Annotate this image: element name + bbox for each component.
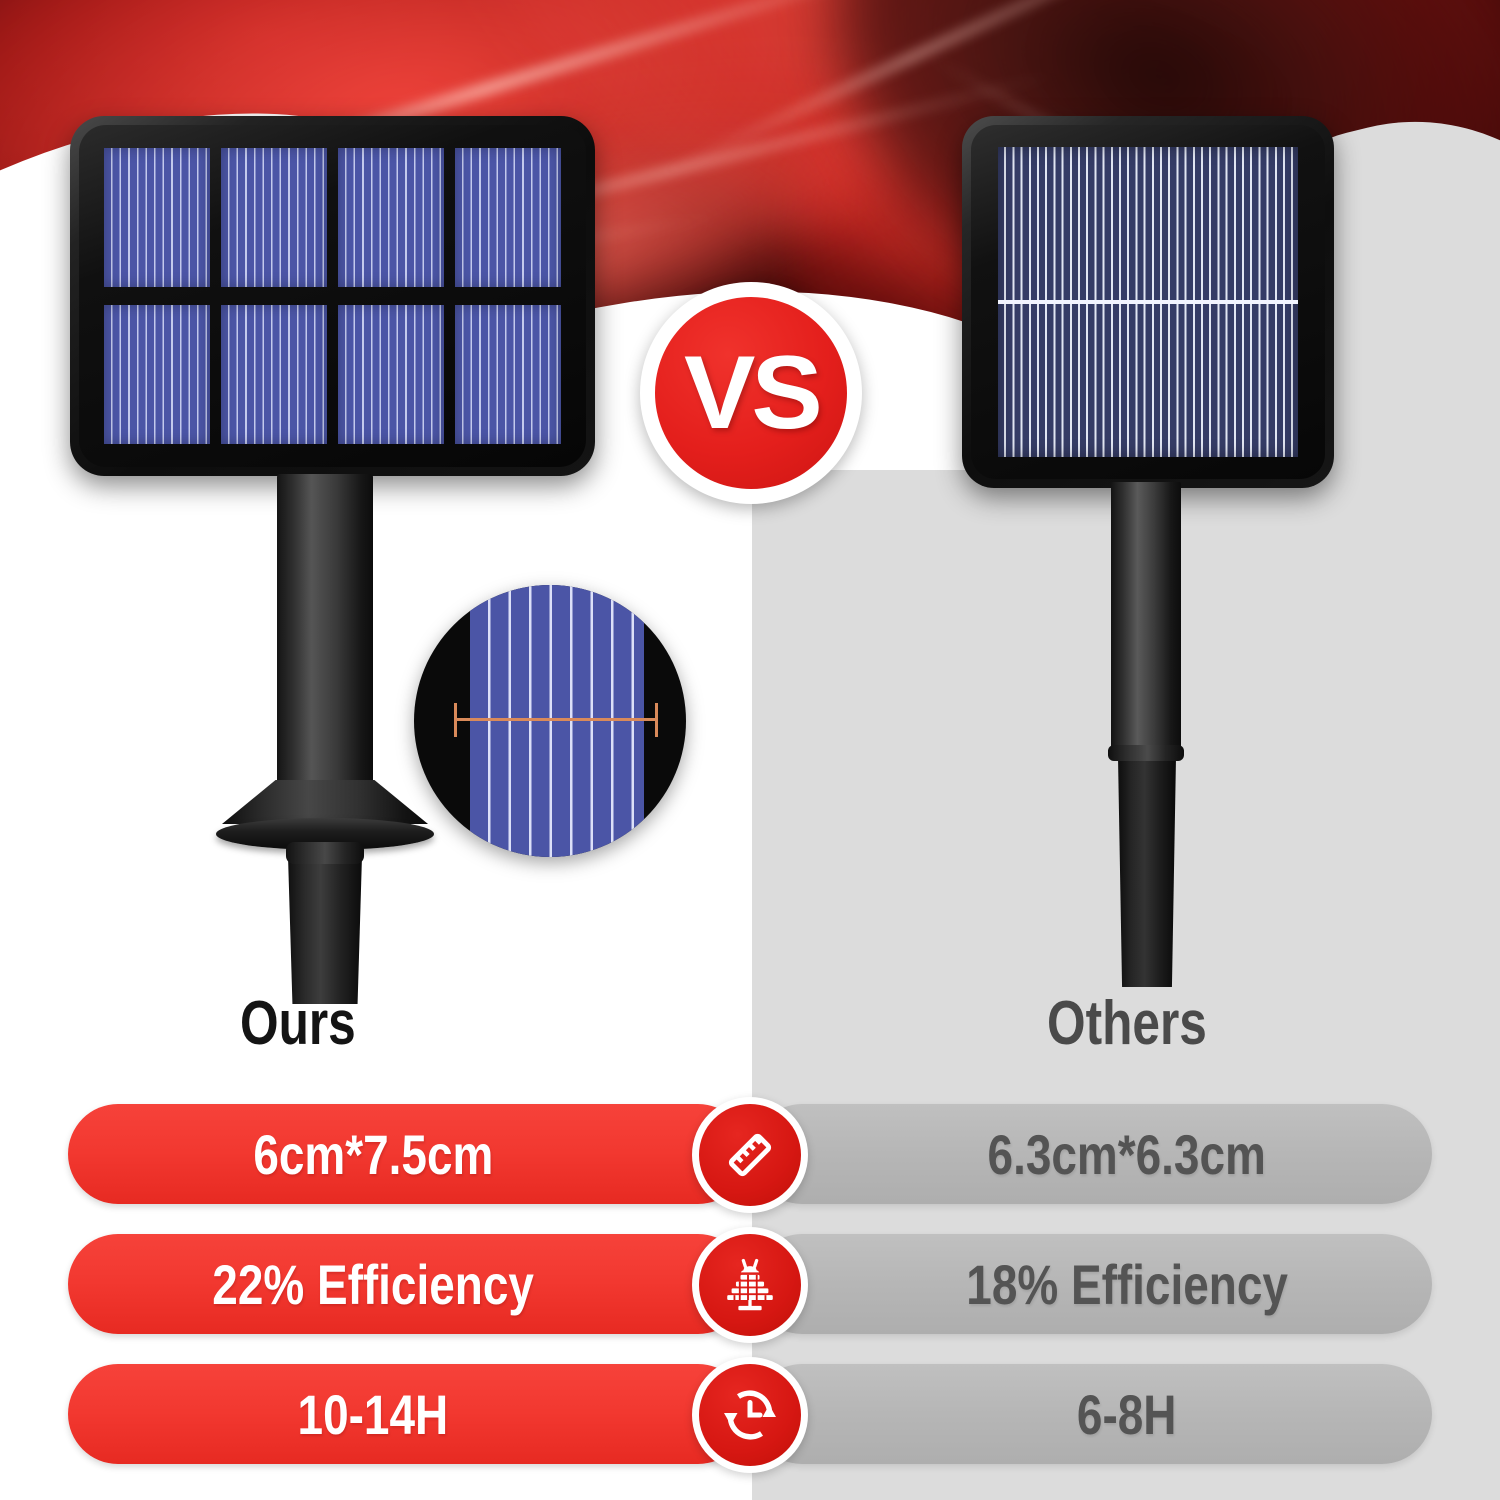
- stake-others-spike: [1118, 757, 1176, 987]
- stake-ours-collar: [286, 842, 364, 864]
- pill-ours-efficiency: 22% Efficiency: [68, 1234, 748, 1334]
- solar-cell: [455, 305, 561, 444]
- magnified-solar-cell: [470, 585, 644, 857]
- magnified-busbar: [454, 718, 658, 721]
- value-ours-size: 6cm*7.5cm: [253, 1122, 493, 1187]
- pill-others-efficiency: 18% Efficiency: [752, 1234, 1432, 1334]
- row-badge-runtime: [692, 1357, 808, 1473]
- solar-cell: [455, 148, 561, 287]
- solar-cell-mono: [998, 147, 1298, 457]
- comparison-rows: 6cm*7.5cm 6.3cm*6.3cm: [0, 1104, 1500, 1494]
- pill-ours-size: 6cm*7.5cm: [68, 1104, 748, 1204]
- magnified-busbar-tick-left: [454, 703, 457, 737]
- column-label-ours: Ours: [240, 988, 356, 1059]
- solar-panel-others-cells: [971, 125, 1325, 479]
- value-others-size: 6.3cm*6.3cm: [988, 1122, 1266, 1187]
- vs-badge-circle: VS: [655, 297, 847, 489]
- comparison-row-size: 6cm*7.5cm 6.3cm*6.3cm: [0, 1104, 1500, 1204]
- pill-ours-runtime: 10-14H: [68, 1364, 748, 1464]
- solar-cell: [221, 148, 327, 287]
- stake-others-tube: [1111, 482, 1181, 752]
- value-others-runtime: 6-8H: [1077, 1382, 1177, 1447]
- solar-busbar: [998, 300, 1298, 304]
- comparison-row-runtime: 10-14H 6-8H: [0, 1364, 1500, 1464]
- stake-others-collar: [1108, 745, 1184, 761]
- value-ours-runtime: 10-14H: [298, 1382, 449, 1447]
- comparison-infographic: VS Ours Others 6cm*7.5cm 6.3cm*6.3cm: [0, 0, 1500, 1500]
- solar-cell: [338, 148, 444, 287]
- value-others-efficiency: 18% Efficiency: [966, 1252, 1288, 1317]
- solar-panel-others: [962, 116, 1334, 488]
- ruler-icon: [699, 1104, 801, 1206]
- solar-cell: [338, 305, 444, 444]
- row-badge-size: [692, 1097, 808, 1213]
- stake-ours-tube: [277, 474, 373, 799]
- clock-refresh-icon: [699, 1364, 801, 1466]
- row-badge-efficiency: [692, 1227, 808, 1343]
- magnifier-circle: [414, 585, 686, 857]
- stake-ours-spike: [288, 856, 362, 1004]
- pill-others-size: 6.3cm*6.3cm: [752, 1104, 1432, 1204]
- vs-badge: VS: [640, 282, 862, 504]
- pill-others-runtime: 6-8H: [752, 1364, 1432, 1464]
- vs-label: VS: [684, 341, 819, 445]
- solar-panel-ours: [70, 116, 595, 476]
- solar-cell: [221, 305, 327, 444]
- solar-cell: [104, 148, 210, 287]
- magnified-busbar-tick-right: [655, 703, 658, 737]
- column-label-others: Others: [1047, 988, 1207, 1059]
- comparison-row-efficiency: 22% Efficiency 18% Efficiency: [0, 1234, 1500, 1334]
- value-ours-efficiency: 22% Efficiency: [212, 1252, 534, 1317]
- solar-cell: [104, 305, 210, 444]
- solar-panel-ours-cells: [79, 125, 586, 467]
- solar-panel-icon: [699, 1234, 801, 1336]
